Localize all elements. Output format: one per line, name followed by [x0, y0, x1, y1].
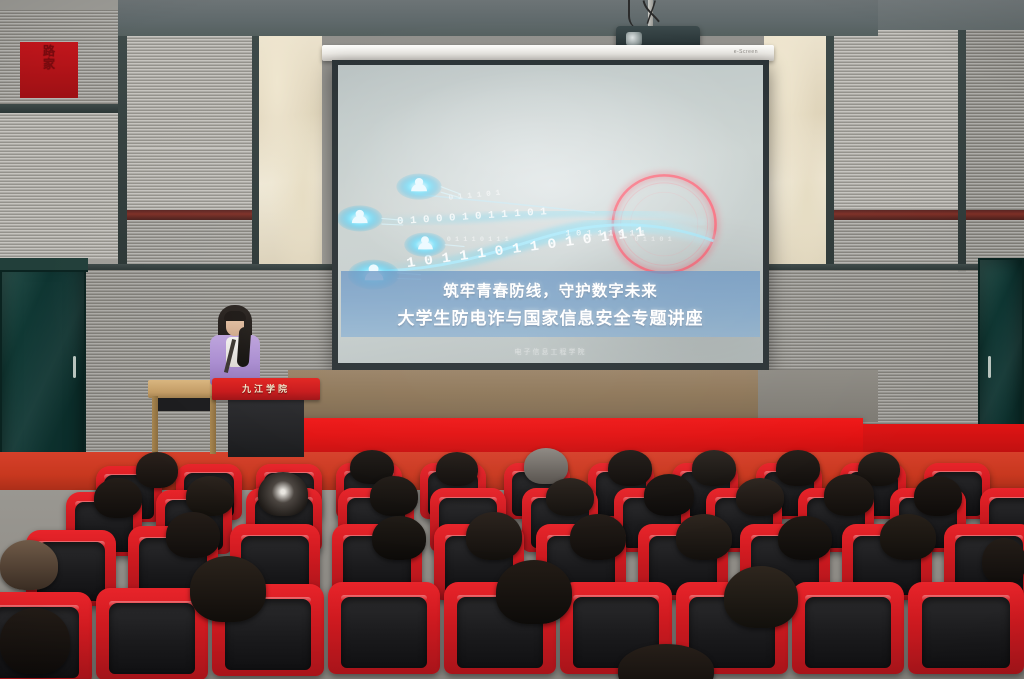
projection-screen-housing: e-Screen [322, 45, 774, 61]
ceiling-band [878, 0, 1024, 30]
door-transom [0, 258, 88, 272]
audience-head [644, 474, 694, 516]
auditorium-seat[interactable] [908, 582, 1024, 674]
wall-panel [126, 36, 254, 148]
wall-trim-red [834, 210, 1024, 220]
audience-head [466, 512, 522, 560]
lectern-banner: 路家 [20, 42, 78, 98]
user-node-icon [396, 174, 441, 200]
audience-head [190, 556, 266, 622]
housing-brand-label: e-Screen [734, 49, 758, 55]
wall-trim-dark [0, 104, 126, 113]
marble-pilaster [764, 34, 826, 270]
audience-head [914, 476, 962, 516]
audience-head [186, 476, 234, 516]
svg-text:1 0 1 1 1 0 1 1: 1 0 1 1 1 0 1 1 [565, 229, 645, 239]
audience-head [880, 514, 936, 560]
audience-head [166, 512, 220, 558]
ceiling-band [0, 0, 120, 10]
svg-text:0 1 1 0 1: 0 1 1 0 1 [635, 236, 672, 244]
stage-backdrop [288, 370, 758, 422]
audience-head [608, 450, 652, 486]
lectern-body [228, 399, 304, 457]
auditorium-seat[interactable] [328, 582, 440, 674]
audience-head [436, 452, 478, 486]
wall-panel [126, 148, 254, 210]
slide-title-line-1: 筑牢青春防线，守护数字未来 [443, 279, 658, 301]
wall-panel [0, 113, 118, 259]
user-node-icon [338, 206, 382, 232]
lectern-banner-text: 路家 [20, 42, 78, 98]
audience-head [736, 478, 784, 516]
audience-head [676, 514, 732, 560]
slide-title-line-2: 大学生防电诈与国家信息安全专题讲座 [398, 304, 704, 329]
presenter-fringe [224, 311, 246, 321]
audience-head [692, 450, 736, 486]
audience-head [370, 476, 418, 516]
exit-door-left[interactable] [0, 258, 86, 474]
wall-panel [834, 30, 958, 210]
audience-head [982, 538, 1024, 584]
stage-backdrop [758, 370, 878, 422]
svg-text:0 1 1 1 0 1 1 1: 0 1 1 1 0 1 1 1 [447, 236, 509, 244]
audience-head [570, 514, 626, 560]
projection-screen: 0 1 1 1 0 1 0 1 0 0 0 1 0 1 1 1 0 1 0 1 … [332, 60, 769, 370]
audience-head [546, 478, 594, 516]
audience-head [778, 516, 832, 560]
audience-head [496, 560, 572, 624]
lectern: 九江学院 [212, 378, 320, 458]
audience-head [0, 540, 58, 590]
wall-trim-dark [252, 34, 259, 270]
audience-head [824, 474, 874, 516]
audience-head [94, 478, 142, 518]
user-node-icon [404, 233, 446, 257]
auditorium-photo: e-Screen [0, 0, 1024, 679]
lectern-top: 九江学院 [212, 378, 320, 400]
wall-trim-red [120, 210, 260, 220]
marble-pilaster [258, 34, 322, 270]
door-reflection [2, 260, 84, 472]
table-underside [156, 397, 214, 411]
wall-trim-dark [958, 30, 966, 272]
door-handle-icon [73, 356, 76, 378]
door-handle-icon [988, 356, 991, 378]
audience-head [724, 566, 798, 628]
presenter [206, 305, 264, 383]
audience-head [372, 516, 426, 560]
ceiling-band [118, 0, 878, 36]
wall-panel [126, 220, 254, 268]
slide-title-band: 筑牢青春防线，守护数字未来 大学生防电诈与国家信息安全专题讲座 [341, 271, 760, 337]
wall-trim-dark [826, 34, 834, 270]
projector-lens-icon [626, 32, 642, 46]
audience-head [136, 452, 178, 488]
auditorium-seat[interactable] [792, 582, 904, 674]
stage-front-panel [863, 424, 1024, 454]
audience-head [258, 472, 308, 516]
table-leg [152, 396, 158, 458]
audience-head [776, 450, 820, 486]
wall-panel [966, 30, 1024, 210]
audience-head [0, 608, 70, 674]
svg-text:0 1 0 0 0 1 0 1 1 1 0 1: 0 1 0 0 0 1 0 1 1 1 0 1 [397, 207, 547, 229]
presentation-slide: 0 1 1 1 0 1 0 1 0 0 0 1 0 1 1 1 0 1 0 1 … [338, 65, 763, 363]
lectern-name-plate: 九江学院 [212, 382, 320, 395]
slide-footer-organization: 电子信息工程学院 [338, 347, 763, 357]
wall-trim-dark [118, 36, 127, 268]
